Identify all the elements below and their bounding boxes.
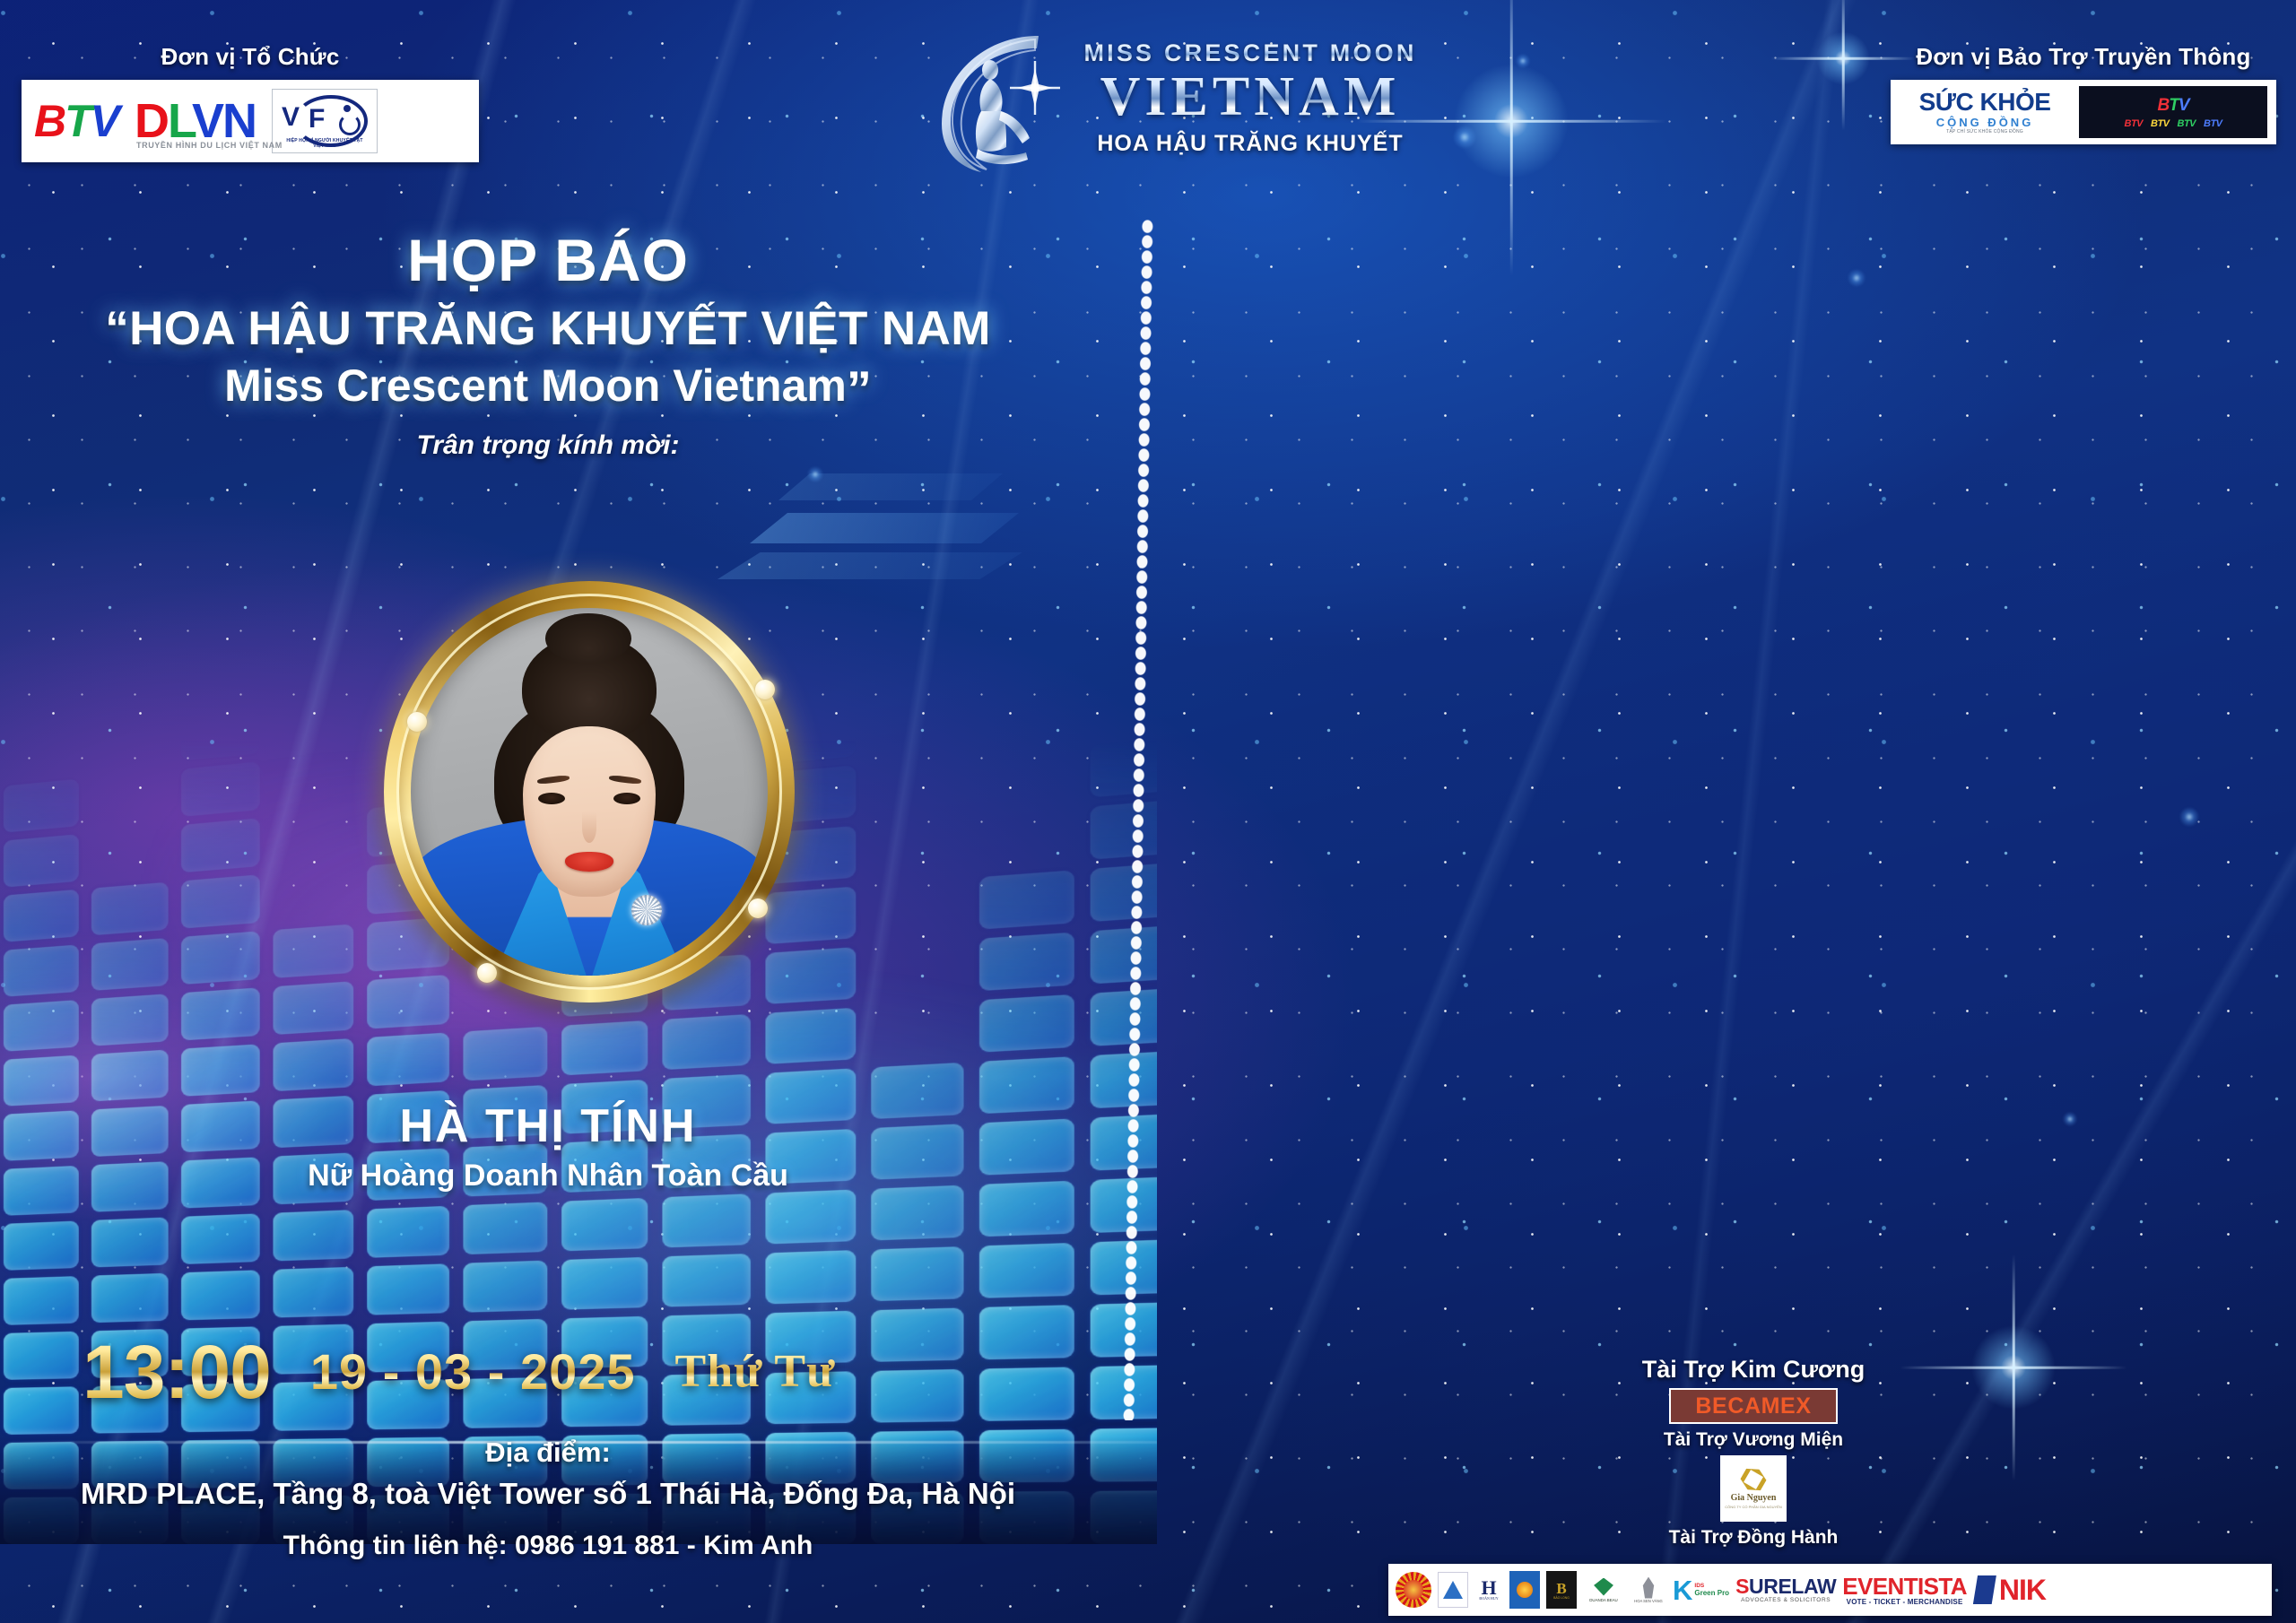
gia-nguyen-logo: Gia Nguyen CÔNG TY CỔ PHẦN GIA NGUYÊN bbox=[1720, 1455, 1787, 1522]
photo-face bbox=[523, 726, 656, 897]
timeline-row: -14h00 - 14h20:Lễ Trao quyết định Đại Sứ… bbox=[1293, 645, 2213, 679]
photo-brooch bbox=[631, 895, 662, 925]
organizer-logo-strip: BTV DLVN TRUYỀN HÌNH DU LỊCH VIỆT NAM V … bbox=[22, 80, 479, 162]
signature-block: Trưởng Ban Tổ Chức Nghệ Nhân Quốc Gia bbox=[1778, 1085, 2208, 1301]
timeline-description: Kết thúc chương trình bbox=[1516, 879, 2213, 913]
timeline-dash: - bbox=[1293, 762, 1303, 795]
list-item: NIK bbox=[1973, 1574, 2046, 1607]
welcome-message: RẤT HÂN HẠNH ĐÓN TIẾP QUÝ KHÁCH! bbox=[1293, 937, 2213, 969]
btv-logo: BTV bbox=[34, 99, 118, 143]
timeline-row-continuation: Kết thúc chương trình bbox=[1293, 879, 2213, 913]
list-item: DUANDA BEAU bbox=[1583, 1571, 1624, 1609]
k-ids-label: IDS bbox=[1694, 1583, 1729, 1589]
sponsor-tiers: Tài Trợ Kim Cương BECAMEX Tài Trợ Vương … bbox=[1561, 1356, 1946, 1549]
k-green-pro-logo: KIDSGreen Pro bbox=[1673, 1576, 1729, 1604]
eventista-tagline: VOTE - TICKET - MERCHANDISE bbox=[1847, 1598, 1963, 1606]
guest-name: HÀ THỊ TÍNH bbox=[0, 1099, 1096, 1153]
guest-portrait bbox=[384, 581, 795, 1002]
timeline-dash: - bbox=[1293, 645, 1303, 678]
triangle-logo-icon bbox=[1438, 1572, 1468, 1608]
lens-flare bbox=[1812, 27, 1874, 90]
btv-logo-t: T bbox=[65, 96, 91, 146]
portrait-gem bbox=[748, 898, 768, 918]
emblem-badge-icon bbox=[1396, 1572, 1431, 1608]
btv-wall-minis: BTVBTVBTVBTV bbox=[2125, 118, 2222, 129]
timeline-dash: - bbox=[1293, 411, 1303, 444]
dlvn-logo-vn: VN bbox=[192, 94, 256, 148]
temple-logo-icon bbox=[1509, 1571, 1540, 1609]
decor-chevron bbox=[750, 513, 1019, 543]
nik-logo: NIK bbox=[1973, 1574, 2046, 1607]
event-venue: Địa điểm: MRD PLACE, Tầng 8, toà Việt To… bbox=[0, 1436, 1096, 1561]
photo-eyebrow-right bbox=[609, 775, 642, 785]
dlvn-logo-l: L bbox=[168, 94, 192, 148]
hexagon-icon bbox=[1737, 1463, 1770, 1496]
vfc-logo-caption: HIỆP HỘI VÌ NGƯỜI KHUYẾT TẬT VIỆT NAM bbox=[282, 138, 368, 149]
k-greenpro-label: Green Pro bbox=[1694, 1589, 1729, 1597]
bao-long-logo: BBẢO LONG bbox=[1546, 1571, 1577, 1609]
timeline-time: -14h20 - 14h45: bbox=[1293, 703, 1516, 737]
list-item bbox=[1438, 1572, 1468, 1608]
stamp-star-icon: ★ bbox=[1701, 1211, 1716, 1229]
timeline-dash: - bbox=[1293, 469, 1303, 502]
timeline-description: Lễ Trao quyết định Đại Sứ Cuộc Thi bbox=[1516, 645, 2213, 679]
becamex-logo-text: BECAMEX bbox=[1695, 1393, 1811, 1419]
timeline-description: Trao giải “Bình chọn video yêu thích” bbox=[1516, 703, 2213, 737]
timeline-row: -13h00 - 13h30:Đón khách, giao lưu, chụp… bbox=[1293, 411, 2213, 445]
photo-eye-right bbox=[613, 793, 640, 804]
photo-eye-left bbox=[538, 793, 565, 804]
portrait-gem bbox=[755, 680, 775, 699]
eventista-logo: EVENTISTAVOTE - TICKET - MERCHANDISE bbox=[1842, 1575, 1967, 1606]
suckhoe-line1: SỨC KHỎE bbox=[1900, 90, 2070, 115]
list-item: HOA SEN VÀNG bbox=[1631, 1571, 1666, 1609]
partner-logo-strip: HĐOÀN HUY BBẢO LONG DUANDA BEAU HOA SEN … bbox=[1388, 1564, 2272, 1616]
poster-canvas: Đơn vị Tổ Chức BTV DLVN TRUYỀN HÌNH DU L… bbox=[0, 0, 2296, 1623]
event-datetime: 13:00 19 - 03 - 2025 Thứ Tư bbox=[83, 1334, 1096, 1410]
timeline-row: -14h45 - 15h00:Trả lời báo chí bbox=[1293, 762, 2213, 796]
btv-logo-b: B bbox=[34, 96, 65, 146]
photo-lips bbox=[565, 852, 613, 872]
bao-long-label: BẢO LONG bbox=[1553, 1596, 1570, 1600]
pageant-crest-logo: MISS CRESCENT MOON VIETNAM HOA HẬU TRĂNG… bbox=[915, 16, 1435, 187]
gia-nguyen-sub: CÔNG TY CỔ PHẦN GIA NGUYÊN bbox=[1725, 1505, 1781, 1509]
portrait-gem bbox=[407, 712, 427, 732]
photo-nose bbox=[582, 812, 596, 843]
wheelchair-person-icon bbox=[337, 105, 357, 135]
organizer-block: Đơn vị Tổ Chức BTV DLVN TRUYỀN HÌNH DU L… bbox=[22, 43, 479, 162]
btv-wall-logo: BTV BTVBTVBTVBTV bbox=[2079, 86, 2267, 138]
crescent-moon-icon bbox=[924, 25, 1076, 176]
timeline-dash: - bbox=[1293, 820, 1303, 854]
decor-chevron bbox=[778, 473, 1003, 500]
handwritten-signature bbox=[1778, 1124, 2208, 1231]
title-kicker: HỌP BÁO bbox=[0, 226, 1096, 294]
becamex-logo: BECAMEX bbox=[1669, 1388, 1838, 1424]
signature-name: Nguyễn Đình Phúc bbox=[1778, 1267, 2208, 1301]
vfc-logo-v: V bbox=[282, 104, 300, 131]
organizer-label: Đơn vị Tổ Chức bbox=[22, 43, 479, 71]
list-item: EVENTISTAVOTE - TICKET - MERCHANDISE bbox=[1842, 1575, 1967, 1606]
event-weekday: Thứ Tư bbox=[675, 1349, 836, 1395]
lens-flare bbox=[1444, 54, 1578, 188]
surelaw-tagline: ADVOCATES & SOLICITORS bbox=[1741, 1597, 1831, 1603]
timeline-row: -13h45 - 14h00:Trưởng Ban Tổ Chức phát b… bbox=[1293, 528, 2213, 562]
surelaw-logo: SURELAWADVOCATES & SOLICITORS bbox=[1735, 1576, 1836, 1603]
partner-sponsor-label: Tài Trợ Đồng Hành bbox=[1561, 1527, 1946, 1549]
timeline-time: -13h00 - 13h30: bbox=[1293, 411, 1516, 445]
timeline-description: Đón khách, giao lưu, chụp ảnh bbox=[1516, 411, 2213, 445]
nik-name: NIK bbox=[1999, 1574, 2046, 1607]
timeline-list: -13h00 - 13h30:Đón khách, giao lưu, chụp… bbox=[1293, 411, 2213, 913]
timeline-description: Đại diện lãnh đạo sở ban ngành phát biểu bbox=[1516, 586, 2213, 621]
dlvn-logo: DLVN TRUYỀN HÌNH DU LỊCH VIỆT NAM bbox=[135, 97, 256, 145]
dlvn-logo-d: D bbox=[135, 94, 168, 148]
crown-sponsor-label: Tài Trợ Vương Miện bbox=[1561, 1429, 1946, 1451]
guest-name-block: HÀ THỊ TÍNH Nữ Hoàng Doanh Nhân Toàn Cầu bbox=[0, 1099, 1096, 1193]
timeline-time: -14h00 - 14h20: bbox=[1293, 645, 1516, 679]
timeline-row: -14h20 - 14h45:Trao giải “Bình chọn vide… bbox=[1293, 703, 2213, 737]
timeline-time: -14h45 - 15h00: bbox=[1293, 762, 1516, 796]
timeline-row: -13h30 - 13h45:Bắt đầu chương trình, giớ… bbox=[1293, 469, 2213, 503]
company-seal-stamp: M.S.D.N.031782 C.T.C.P THÀNH PHỐ HỒ CHÍ … bbox=[1472, 1070, 1734, 1332]
stamp-star-icon: ★ bbox=[1498, 1237, 1512, 1254]
list-item: SURELAWADVOCATES & SOLICITORS bbox=[1735, 1576, 1836, 1603]
vfc-logo: V F HIỆP HỘI VÌ NGƯỜI KHUYẾT TẬT VIỆT NA… bbox=[272, 89, 378, 153]
photo-eyebrow-left bbox=[537, 775, 570, 785]
suckhoe-line2: CỘNG ĐỒNG bbox=[1900, 117, 2070, 128]
invite-line: Trân trọng kính mời: bbox=[0, 430, 1096, 461]
doan-huy-label: ĐOÀN HUY bbox=[1479, 1596, 1498, 1601]
list-item bbox=[1509, 1571, 1540, 1609]
press-conference-title: HỌP BÁO “HOA HẬU TRĂNG KHUYẾT VIỆT NAM M… bbox=[0, 226, 1096, 461]
venue-label: Địa điểm: bbox=[0, 1436, 1096, 1469]
bokeh-glow bbox=[1848, 269, 1865, 287]
duanda-label: DUANDA BEAU bbox=[1589, 1598, 1617, 1602]
hoa-sen-logo: HOA SEN VÀNG bbox=[1631, 1571, 1666, 1609]
list-item: BBẢO LONG bbox=[1546, 1571, 1577, 1609]
portrait-gem bbox=[477, 963, 497, 983]
guest-title: Nữ Hoàng Doanh Nhân Toàn Cầu bbox=[0, 1159, 1096, 1193]
timeline-time: -15h00 bbox=[1293, 820, 1516, 855]
quote-close: ” bbox=[847, 360, 872, 417]
timeline-row: -15h00Chụp ảnh lưu niệm bbox=[1293, 820, 2213, 855]
title-line-en: Miss Crescent Moon Vietnam” bbox=[0, 360, 1096, 418]
gia-nguyen-name: Gia Nguyen bbox=[1731, 1493, 1777, 1503]
hoa-sen-label: HOA SEN VÀNG bbox=[1634, 1599, 1663, 1603]
doan-huy-logo: HĐOÀN HUY bbox=[1474, 1572, 1503, 1608]
event-time: 13:00 bbox=[83, 1334, 271, 1410]
timeline-description: Trả lời báo chí bbox=[1516, 762, 2213, 796]
vfc-logo-f: F bbox=[309, 106, 325, 133]
eventista-name: EVENTISTA bbox=[1842, 1575, 1967, 1598]
duanda-beau-logo: DUANDA BEAU bbox=[1583, 1571, 1624, 1609]
list-item: HĐOÀN HUY bbox=[1474, 1572, 1503, 1608]
diamond-sponsor-label: Tài Trợ Kim Cương bbox=[1561, 1356, 1946, 1384]
signature-honor: Nghệ Nhân Quốc Gia bbox=[1778, 1233, 2208, 1265]
suckhoe-line3: TẠP CHÍ SỨC KHỎE CỘNG ĐỒNG bbox=[1900, 130, 2070, 135]
quote-open: “ bbox=[105, 302, 129, 355]
contact-info: Thông tin liên hệ: 0986 191 881 - Kim An… bbox=[0, 1531, 1096, 1561]
media-sponsor-block: Đơn vị Bảo Trợ Truyền Thông SỨC KHỎE CỘN… bbox=[1891, 43, 2276, 144]
timeline-description: Trưởng Ban Tổ Chức phát biểu về cuộc thi… bbox=[1516, 528, 2213, 562]
decor-chevron bbox=[717, 552, 1022, 579]
venue-address: MRD PLACE, Tầng 8, toà Việt Tower số 1 T… bbox=[0, 1477, 1096, 1511]
timeline-dash: - bbox=[1293, 528, 1303, 561]
timeline-dash: - bbox=[1293, 703, 1303, 736]
suckhoe-congdong-logo: SỨC KHỎE CỘNG ĐỒNG TẠP CHÍ SỨC KHỎE CỘNG… bbox=[1900, 90, 2070, 135]
btv-wall-big: BTV bbox=[2157, 96, 2188, 116]
title-vn-text: HOA HẬU TRĂNG KHUYẾT VIỆT NAM bbox=[129, 302, 991, 355]
btv-logo-v: V bbox=[91, 96, 118, 146]
media-sponsor-label: Đơn vị Bảo Trợ Truyền Thông bbox=[1891, 43, 2276, 71]
timeline-row-continuation: Đại diện lãnh đạo sở ban ngành phát biểu bbox=[1293, 586, 2213, 621]
list-item: KIDSGreen Pro bbox=[1673, 1576, 1729, 1604]
guest-photo bbox=[411, 608, 768, 976]
timeline-heading: TIMELINE bbox=[1293, 334, 2213, 387]
timeline-description: Chụp ảnh lưu niệm bbox=[1516, 820, 2213, 855]
list-item bbox=[1396, 1572, 1431, 1608]
title-line-vn: “HOA HẬU TRĂNG KHUYẾT VIỆT NAM bbox=[0, 301, 1096, 356]
crest-line-3: HOA HẬU TRĂNG KHUYẾT bbox=[1065, 131, 1435, 157]
timeline-time: -13h45 - 14h00: bbox=[1293, 528, 1516, 562]
event-date: 19 - 03 - 2025 bbox=[310, 1347, 636, 1397]
title-en-text: Miss Crescent Moon Vietnam bbox=[224, 360, 847, 411]
signature-area: thank you! M.S.D.N.031782 C.T.C.P bbox=[1293, 1063, 2213, 1332]
crest-line-2: VIETNAM bbox=[1065, 65, 1435, 129]
media-sponsor-logo-strip: SỨC KHỎE CỘNG ĐỒNG TẠP CHÍ SỨC KHỎE CỘNG… bbox=[1891, 80, 2276, 144]
timeline-description: Bắt đầu chương trình, giới thiệu khách m… bbox=[1516, 469, 2213, 503]
dlvn-logo-tagline: TRUYỀN HÌNH DU LỊCH VIỆT NAM bbox=[136, 142, 283, 150]
timeline-panel: TIMELINE -13h00 - 13h30:Đón khách, giao … bbox=[1252, 303, 2253, 1349]
crest-line-1: MISS CRESCENT MOON bbox=[1065, 39, 1435, 67]
timeline-time: -13h30 - 13h45: bbox=[1293, 469, 1516, 503]
